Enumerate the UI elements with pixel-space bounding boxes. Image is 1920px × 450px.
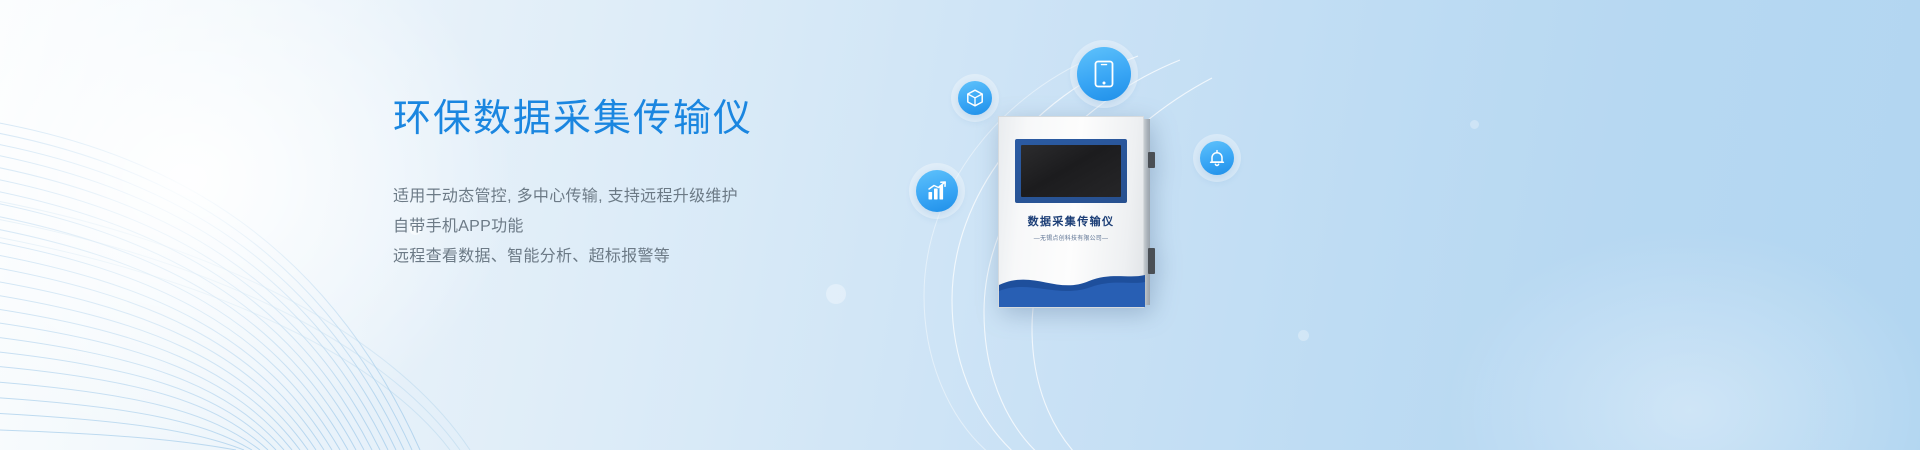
mobile-phone-icon[interactable]: [1077, 47, 1131, 101]
device-latch-top: [1148, 152, 1155, 168]
feature-item-1: 适用于动态管控, 多中心传输, 支持远程升级维护: [393, 182, 913, 212]
bubble-2: [826, 284, 846, 304]
bottom-right-glow: [1340, 150, 1920, 450]
banner-text-block: 环保数据采集传输仪 适用于动态管控, 多中心传输, 支持远程升级维护 自带手机A…: [393, 96, 913, 272]
bubble-5: [1470, 120, 1479, 129]
device-brand-label: 数据采集传输仪: [999, 213, 1143, 229]
bar-chart-icon[interactable]: [916, 170, 958, 212]
feature-list: 适用于动态管控, 多中心传输, 支持远程升级维护 自带手机APP功能 远程查看数…: [393, 182, 913, 272]
device-body: 数据采集传输仪 —无锡点创科技有限公司—: [998, 116, 1144, 308]
device-wave-graphic: [999, 265, 1145, 307]
device-latch-bottom: [1148, 248, 1155, 274]
cube-box-icon[interactable]: [958, 81, 992, 115]
data-acquisition-device: 数据采集传输仪 —无锡点创科技有限公司—: [998, 116, 1144, 308]
product-illustration: 数据采集传输仪 —无锡点创科技有限公司—: [880, 0, 1300, 450]
product-hero-banner: 环保数据采集传输仪 适用于动态管控, 多中心传输, 支持远程升级维护 自带手机A…: [0, 0, 1920, 450]
device-screen: [1021, 145, 1121, 197]
device-company-label: —无锡点创科技有限公司—: [999, 233, 1143, 242]
feature-item-3: 远程查看数据、智能分析、超标报警等: [393, 242, 913, 272]
alarm-bell-icon[interactable]: [1200, 141, 1234, 175]
page-title: 环保数据采集传输仪: [393, 96, 913, 144]
device-screen-bezel: [1015, 139, 1127, 203]
feature-item-2: 自带手机APP功能: [393, 212, 913, 242]
